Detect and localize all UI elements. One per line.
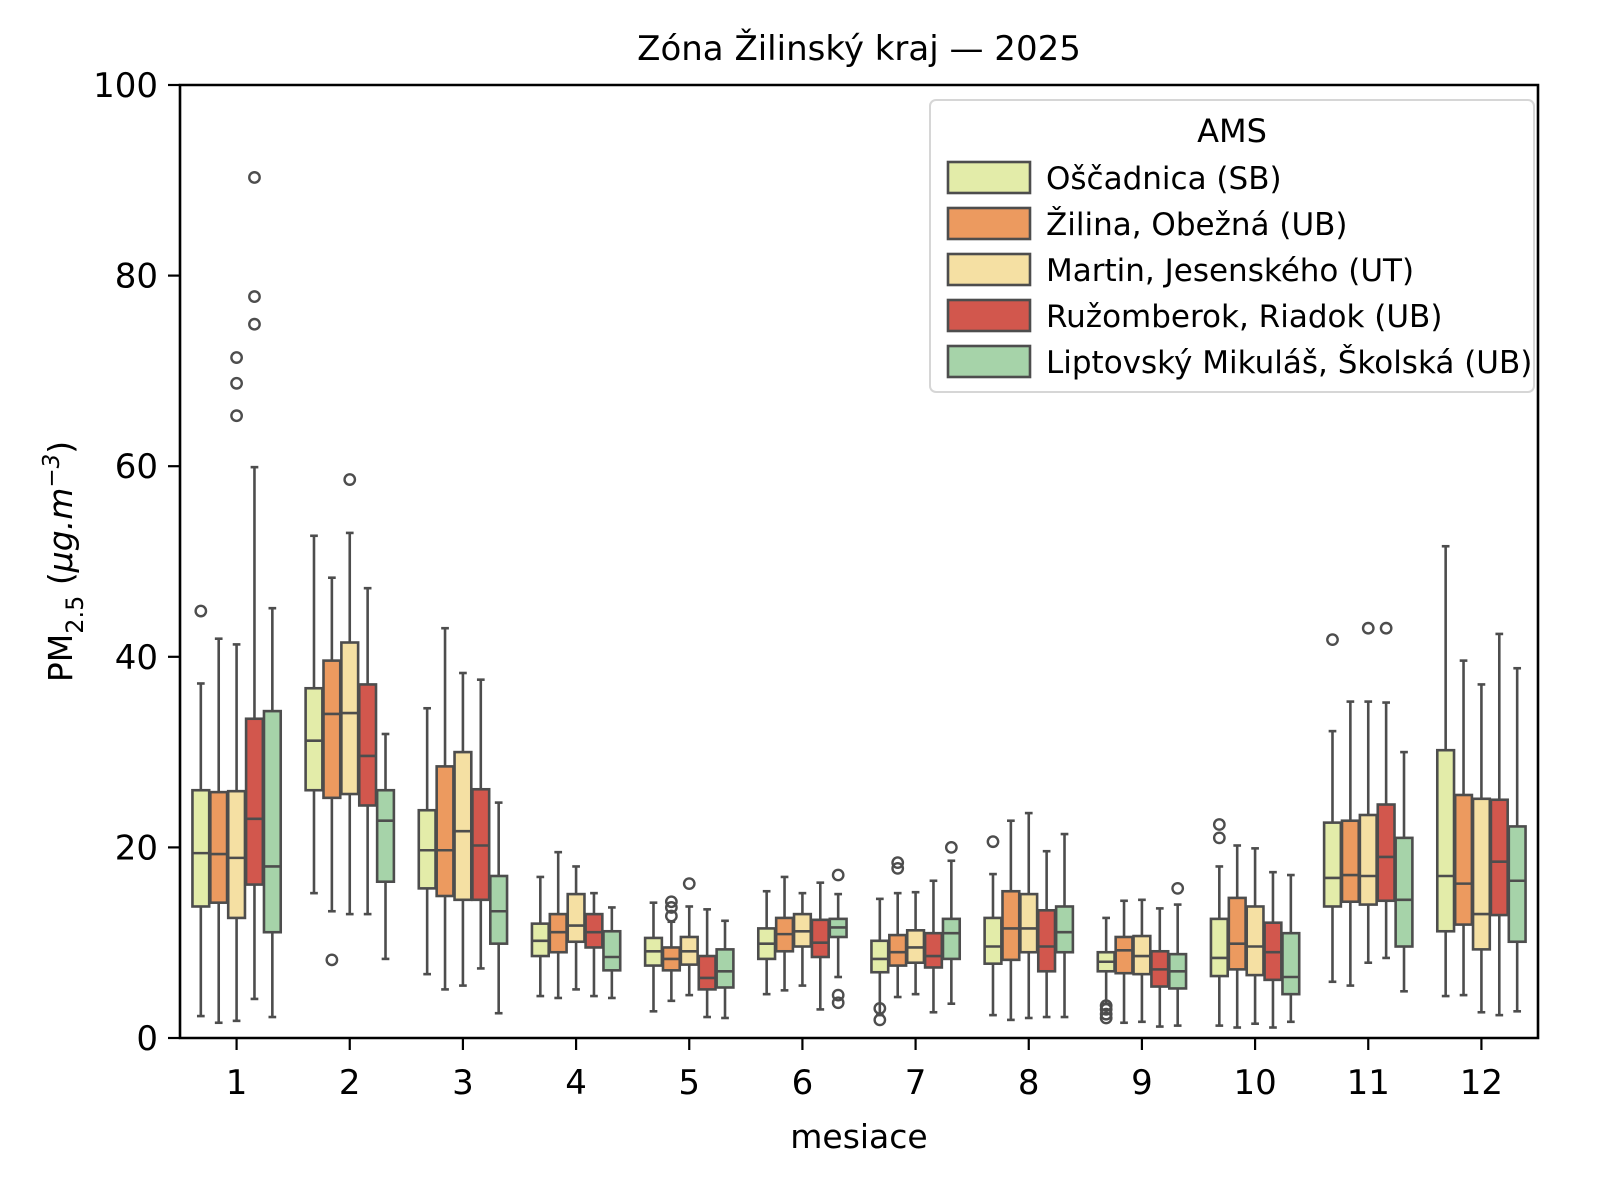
box-plot-box — [889, 857, 906, 997]
outlier-point — [231, 378, 241, 388]
box-plot-box — [341, 474, 358, 914]
box-plot-box — [776, 877, 793, 990]
box-plot-box — [306, 536, 323, 893]
box-plot-box — [663, 897, 680, 1001]
box-plot-box — [586, 893, 603, 996]
box-plot-box — [1002, 821, 1019, 1020]
outlier-point — [833, 870, 843, 880]
y-tick-label: 60 — [115, 447, 158, 487]
outlier-point — [1381, 623, 1391, 633]
outlier-point — [327, 955, 337, 965]
x-tick-label: 2 — [339, 1063, 361, 1103]
box-plot-box — [323, 578, 340, 965]
legend-item[interactable]: Žilina, Obežná (UB) — [948, 207, 1348, 243]
box-plot-box — [1360, 623, 1377, 963]
box-plot-box — [1134, 900, 1151, 1022]
box-plot-box — [228, 352, 245, 1020]
box-plot-box — [794, 893, 811, 985]
box-plot-box — [1229, 845, 1246, 1027]
box-plot-box — [1509, 668, 1526, 1011]
box-plot-box — [812, 883, 829, 1010]
svg-text:PM2.5 (μg.m−3): PM2.5 (μg.m−3) — [39, 441, 89, 682]
outlier-point — [1327, 634, 1337, 644]
x-tick-label: 6 — [792, 1063, 814, 1103]
box-plot-box — [1056, 834, 1073, 1017]
chart-figure: Zóna Žilinský kraj — 2025020406080100123… — [0, 0, 1600, 1200]
legend-title: AMS — [1197, 112, 1267, 150]
legend-item-label: Martin, Jesenského (UT) — [1046, 253, 1414, 289]
box-plot-box — [985, 836, 1002, 1015]
legend-item-label: Liptovský Mikuláš, Školská (UB) — [1046, 344, 1532, 381]
outlier-point — [345, 474, 355, 484]
box-plot-box — [359, 588, 376, 914]
legend-item-label: Ružomberok, Riadok (UB) — [1046, 299, 1442, 335]
box-plot-box — [1211, 819, 1228, 1025]
box-plot-box — [645, 903, 662, 1012]
x-tick-label: 9 — [1131, 1063, 1153, 1103]
box-plot-box — [603, 907, 620, 998]
legend-swatch — [948, 346, 1030, 377]
box-plot-box — [907, 892, 924, 994]
legend-swatch — [948, 300, 1030, 331]
box-plot-box — [681, 878, 698, 995]
legend-swatch — [948, 208, 1030, 239]
outlier-point — [946, 842, 956, 852]
outlier-point — [196, 606, 206, 616]
box-plot-box — [1473, 684, 1490, 1012]
x-tick-label: 4 — [565, 1063, 587, 1103]
box-plot-box — [490, 803, 507, 1014]
box-plot-box — [717, 921, 734, 1018]
x-tick-label: 1 — [226, 1063, 248, 1103]
y-tick-label: 40 — [115, 638, 158, 678]
outlier-point — [231, 410, 241, 420]
box-plot-box — [1437, 546, 1454, 996]
outlier-point — [231, 352, 241, 362]
y-tick-label: 100 — [93, 66, 158, 106]
y-tick-label: 20 — [115, 828, 158, 868]
box-plot-box — [1378, 623, 1395, 958]
x-tick-label: 12 — [1460, 1063, 1503, 1103]
x-tick-label: 3 — [452, 1063, 474, 1103]
box-plot-box — [1396, 752, 1413, 991]
box-plot-box — [758, 891, 775, 994]
x-tick-label: 11 — [1347, 1063, 1390, 1103]
box-plot-box — [1342, 702, 1359, 986]
box-plot-box — [1491, 634, 1508, 1015]
box-plot-box — [1247, 848, 1264, 1023]
legend: AMSOščadnica (SB)Žilina, Obežná (UB)Mart… — [930, 100, 1534, 392]
box-plot-box — [568, 866, 585, 989]
box-plot-box — [264, 608, 281, 1017]
legend-item[interactable]: Oščadnica (SB) — [948, 161, 1282, 197]
box-plot-box — [210, 639, 227, 1023]
outlier-point — [1214, 819, 1224, 829]
legend-item[interactable]: Ružomberok, Riadok (UB) — [948, 299, 1442, 335]
outlier-point — [249, 172, 259, 182]
box-plot-box — [1151, 908, 1168, 1026]
outlier-point — [1363, 623, 1373, 633]
box-plot-box — [830, 870, 847, 1008]
x-tick-label: 5 — [678, 1063, 700, 1103]
legend-item[interactable]: Martin, Jesenského (UT) — [948, 253, 1414, 289]
y-tick-label: 0 — [136, 1019, 158, 1059]
box-plot-box — [1020, 813, 1037, 1018]
outlier-point — [988, 836, 998, 846]
box-plot-box — [1098, 918, 1115, 1023]
box-plot-box — [437, 628, 454, 989]
box-plot-box — [192, 606, 209, 1016]
outlier-point — [249, 319, 259, 329]
outlier-point — [1214, 833, 1224, 843]
box-plot-box — [550, 852, 567, 998]
box-plot-box — [1038, 851, 1055, 1017]
box-plot-box — [472, 680, 489, 969]
legend-swatch — [948, 162, 1030, 193]
box-plot-box — [1169, 883, 1186, 1025]
chart-title: Zóna Žilinský kraj — 2025 — [637, 28, 1081, 69]
box-plot-box — [455, 673, 472, 986]
box-plot-box — [1324, 634, 1341, 981]
outlier-point — [833, 998, 843, 1008]
box-plot-box — [532, 877, 549, 996]
x-tick-label: 7 — [905, 1063, 927, 1103]
box-plot-box — [246, 172, 263, 999]
y-axis-title: PM2.5 (μg.m−3) — [39, 441, 89, 682]
y-tick-label: 80 — [115, 257, 158, 297]
x-axis-title: mesiace — [790, 1117, 927, 1156]
outlier-point — [1172, 883, 1182, 893]
boxplot-canvas: Zóna Žilinský kraj — 2025020406080100123… — [0, 0, 1600, 1200]
box-plot-box — [1265, 872, 1282, 1027]
box-plot-box — [377, 734, 394, 959]
x-tick-label: 8 — [1018, 1063, 1040, 1103]
box-plot-box — [1455, 661, 1472, 996]
box-plot-box — [1282, 875, 1299, 1022]
outlier-point — [249, 291, 259, 301]
box-plot-box — [925, 881, 942, 1013]
outlier-point — [684, 878, 694, 888]
box-plot-box — [699, 909, 716, 1017]
x-tick-label: 10 — [1233, 1063, 1276, 1103]
legend-swatch — [948, 254, 1030, 285]
box-plot-box — [871, 899, 888, 1025]
legend-item-label: Oščadnica (SB) — [1046, 161, 1282, 197]
boxplot-series — [228, 352, 1490, 1023]
box-plot-box — [419, 708, 436, 974]
legend-item-label: Žilina, Obežná (UB) — [1046, 207, 1348, 243]
box-plot-box — [1116, 901, 1133, 1023]
box-plot-box — [943, 842, 960, 1003]
